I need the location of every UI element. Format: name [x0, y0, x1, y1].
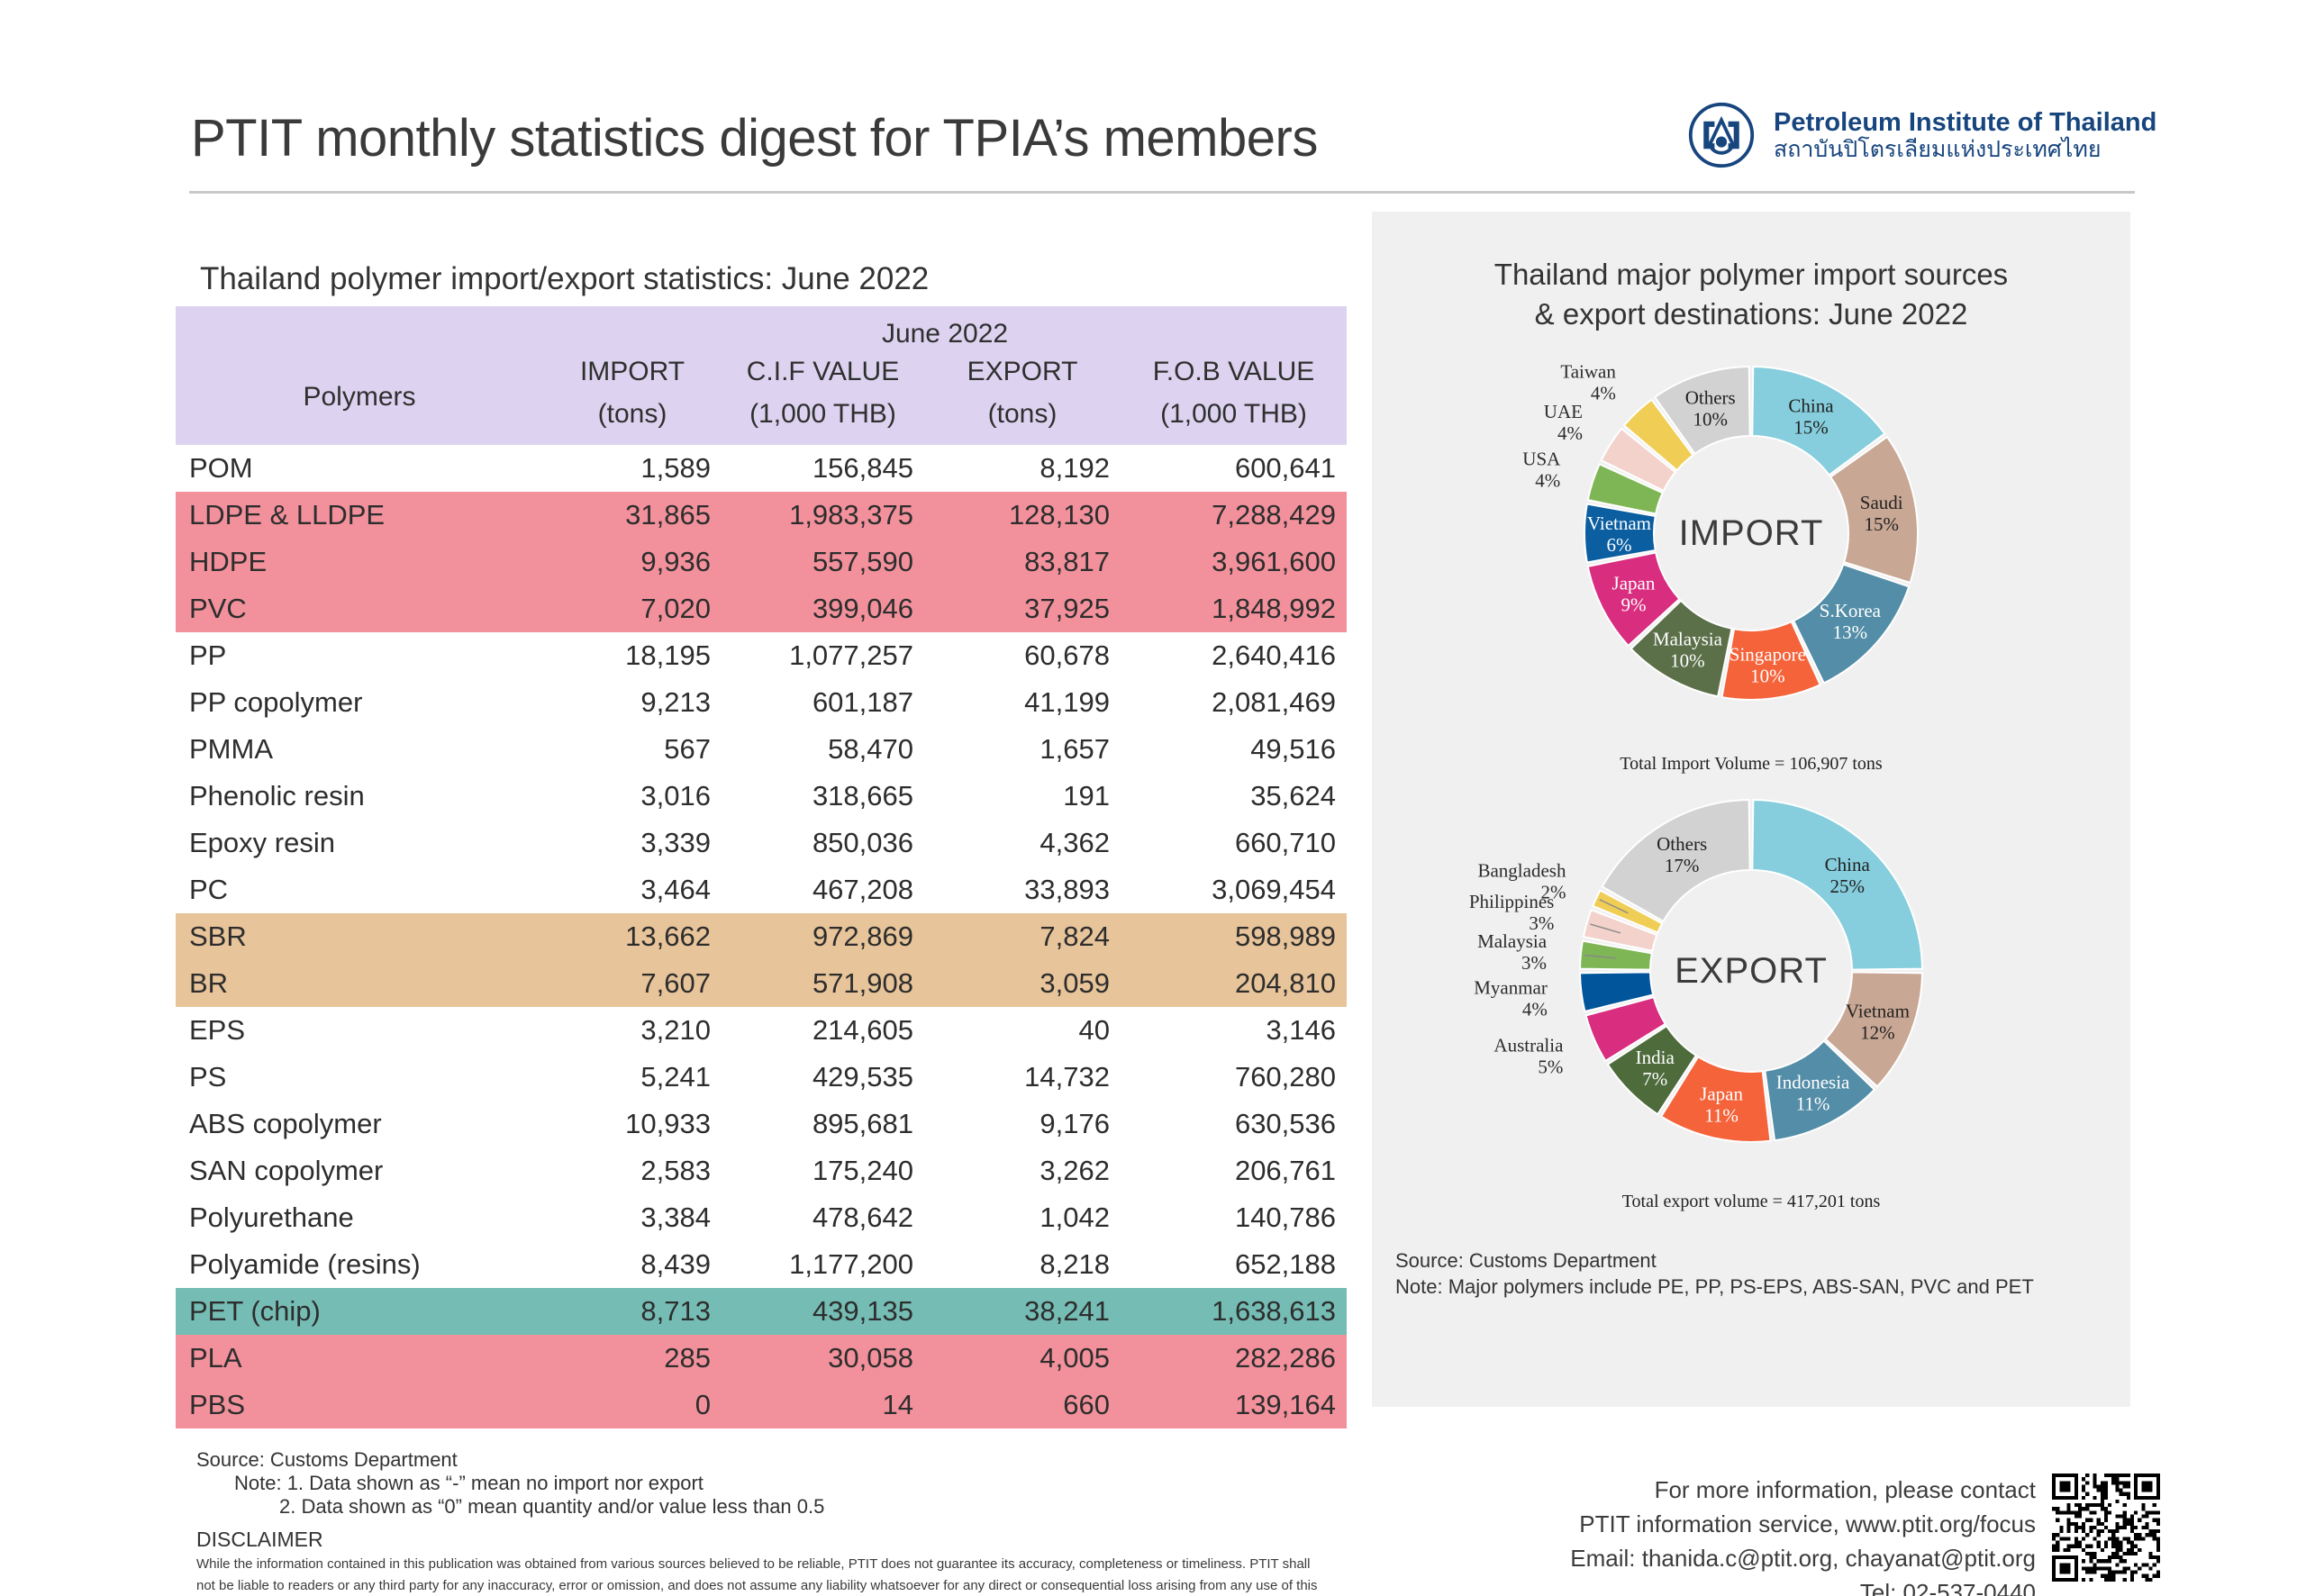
row-fob-value: 1,638,613 [1121, 1288, 1347, 1335]
table-footnotes: Source: Customs Department Note: 1. Data… [196, 1448, 1322, 1596]
row-import-tons: 31,865 [543, 492, 722, 539]
row-cif-value: 1,077,257 [722, 632, 924, 679]
brand-logo: Petroleum Institute of Thailand สถาบันปิ… [1687, 101, 2156, 169]
charts-source-note: Source: Customs Department Note: Major p… [1395, 1247, 2034, 1300]
row-export-tons: 8,218 [924, 1241, 1121, 1288]
row-cif-value: 850,036 [722, 820, 924, 866]
row-export-tons: 3,262 [924, 1147, 1121, 1194]
row-export-tons: 41,199 [924, 679, 1121, 726]
row-polymer-name: Phenolic resin [176, 773, 543, 820]
row-cif-value: 318,665 [722, 773, 924, 820]
table-row: SAN copolymer2,583175,2403,262206,761 [176, 1147, 1347, 1194]
row-fob-value: 600,641 [1121, 445, 1347, 492]
row-fob-value: 630,536 [1121, 1101, 1347, 1147]
row-import-tons: 9,936 [543, 539, 722, 585]
slice-label: USA4% [1522, 449, 1561, 492]
table-header-period-row: June 2022 [176, 306, 1347, 349]
row-export-tons: 1,657 [924, 726, 1121, 773]
row-polymer-name: SBR [176, 913, 543, 960]
column-header-fob: F.O.B VALUE [1121, 349, 1347, 394]
table-row: LDPE & LLDPE31,8651,983,375128,1307,288,… [176, 492, 1347, 539]
row-cif-value: 601,187 [722, 679, 924, 726]
table-row: POM1,589156,8458,192600,641 [176, 445, 1347, 492]
row-polymer-name: POM [176, 445, 543, 492]
row-polymer-name: LDPE & LLDPE [176, 492, 543, 539]
row-import-tons: 5,241 [543, 1054, 722, 1101]
row-import-tons: 3,210 [543, 1007, 722, 1054]
row-export-tons: 9,176 [924, 1101, 1121, 1147]
row-cif-value: 30,058 [722, 1335, 924, 1382]
row-fob-value: 206,761 [1121, 1147, 1347, 1194]
row-export-tons: 14,732 [924, 1054, 1121, 1101]
row-polymer-name: PVC [176, 585, 543, 632]
row-import-tons: 3,339 [543, 820, 722, 866]
page-title: PTIT monthly statistics digest for TPIA’… [191, 108, 1318, 168]
row-cif-value: 175,240 [722, 1147, 924, 1194]
row-cif-value: 214,605 [722, 1007, 924, 1054]
row-cif-value: 156,845 [722, 445, 924, 492]
column-unit-fob: (1,000 THB) [1121, 394, 1347, 445]
table-row: PP copolymer9,213601,18741,1992,081,469 [176, 679, 1347, 726]
brand-name-th: สถาบันปิโตรเลียมแห่งประเทศไทย [1774, 137, 2156, 162]
column-header-polymers: Polymers [176, 349, 543, 445]
export-donut-chart: China25%Vietnam12%Indonesia11%Japan11%In… [1372, 759, 2130, 1212]
row-fob-value: 598,989 [1121, 913, 1347, 960]
contact-line-1: For more information, please contact [1522, 1474, 2036, 1508]
row-fob-value: 139,164 [1121, 1382, 1347, 1428]
row-import-tons: 3,464 [543, 866, 722, 913]
table-row: Phenolic resin3,016318,66519135,624 [176, 773, 1347, 820]
table-header-label-row: Polymers IMPORT C.I.F VALUE EXPORT F.O.B… [176, 349, 1347, 394]
row-fob-value: 652,188 [1121, 1241, 1347, 1288]
row-fob-value: 2,081,469 [1121, 679, 1347, 726]
row-fob-value: 282,286 [1121, 1335, 1347, 1382]
table-row: Epoxy resin3,339850,0364,362660,710 [176, 820, 1347, 866]
row-import-tons: 13,662 [543, 913, 722, 960]
row-polymer-name: Epoxy resin [176, 820, 543, 866]
row-polymer-name: PP [176, 632, 543, 679]
column-unit-cif: (1,000 THB) [722, 394, 924, 445]
row-cif-value: 478,642 [722, 1194, 924, 1241]
row-import-tons: 10,933 [543, 1101, 722, 1147]
slice-label: UAE4% [1544, 401, 1583, 444]
table-row: HDPE9,936557,59083,8173,961,600 [176, 539, 1347, 585]
table-row: PP18,1951,077,25760,6782,640,416 [176, 632, 1347, 679]
brand-name-en: Petroleum Institute of Thailand [1774, 108, 2156, 137]
table-row: PVC7,020399,04637,9251,848,992 [176, 585, 1347, 632]
page-root: PTIT monthly statistics digest for TPIA’… [0, 0, 2306, 1596]
header-period: June 2022 [543, 306, 1347, 349]
export-total-label: Total export volume = 417,201 tons [1372, 1192, 2130, 1212]
row-polymer-name: HDPE [176, 539, 543, 585]
row-import-tons: 8,439 [543, 1241, 722, 1288]
row-polymer-name: PC [176, 866, 543, 913]
row-export-tons: 1,042 [924, 1194, 1121, 1241]
row-export-tons: 37,925 [924, 585, 1121, 632]
row-fob-value: 35,624 [1121, 773, 1347, 820]
header-divider [189, 191, 2135, 194]
table-row: Polyurethane3,384478,6421,042140,786 [176, 1194, 1347, 1241]
table-body: POM1,589156,8458,192600,641LDPE & LLDPE3… [176, 445, 1347, 1428]
table-row: PS5,241429,53514,732760,280 [176, 1054, 1347, 1101]
footnote-note-2: 2. Data shown as “0” mean quantity and/o… [279, 1495, 1322, 1519]
row-export-tons: 60,678 [924, 632, 1121, 679]
row-fob-value: 1,848,992 [1121, 585, 1347, 632]
row-cif-value: 895,681 [722, 1101, 924, 1147]
row-import-tons: 8,713 [543, 1288, 722, 1335]
row-polymer-name: PLA [176, 1335, 543, 1382]
row-cif-value: 429,535 [722, 1054, 924, 1101]
charts-note: Note: Major polymers include PE, PP, PS-… [1395, 1274, 2034, 1300]
row-export-tons: 7,824 [924, 913, 1121, 960]
row-export-tons: 660 [924, 1382, 1121, 1428]
row-fob-value: 760,280 [1121, 1054, 1347, 1101]
charts-title-line1: Thailand major polymer import sources [1372, 255, 2130, 295]
slice-label: Myanmar4% [1474, 977, 1548, 1020]
table-row: ABS copolymer10,933895,6819,176630,536 [176, 1101, 1347, 1147]
table-row: PET (chip)8,713439,13538,2411,638,613 [176, 1288, 1347, 1335]
row-polymer-name: SAN copolymer [176, 1147, 543, 1194]
row-import-tons: 567 [543, 726, 722, 773]
contact-line-4: Tel: 02-537-0440 [1522, 1576, 2036, 1596]
row-fob-value: 3,069,454 [1121, 866, 1347, 913]
row-export-tons: 191 [924, 773, 1121, 820]
row-export-tons: 4,362 [924, 820, 1121, 866]
row-cif-value: 14 [722, 1382, 924, 1428]
table-row: PC3,464467,20833,8933,069,454 [176, 866, 1347, 913]
donut-center-label: EXPORT [1675, 951, 1828, 991]
row-fob-value: 660,710 [1121, 820, 1347, 866]
row-export-tons: 8,192 [924, 445, 1121, 492]
slice-label: Japan11% [1700, 1083, 1743, 1126]
contact-line-3: Email: thanida.c@ptit.org, chayanat@ptit… [1522, 1542, 2036, 1576]
row-fob-value: 3,146 [1121, 1007, 1347, 1054]
row-polymer-name: EPS [176, 1007, 543, 1054]
footnote-note-1: Note: 1. Data shown as “-” mean no impor… [234, 1472, 1322, 1495]
column-unit-export: (tons) [924, 394, 1121, 445]
slice-label: Saudi15% [1860, 492, 1903, 535]
row-polymer-name: ABS copolymer [176, 1101, 543, 1147]
import-donut-chart: China15%Saudi15%S.Korea13%Singapore10%Ma… [1372, 322, 2130, 775]
row-fob-value: 3,961,600 [1121, 539, 1347, 585]
row-export-tons: 128,130 [924, 492, 1121, 539]
slice-label: Australia5% [1493, 1035, 1564, 1078]
column-header-export: EXPORT [924, 349, 1121, 394]
row-cif-value: 557,590 [722, 539, 924, 585]
row-fob-value: 7,288,429 [1121, 492, 1347, 539]
row-import-tons: 18,195 [543, 632, 722, 679]
donut-center-label: IMPORT [1679, 513, 1824, 553]
slice-label: Taiwan4% [1560, 361, 1616, 404]
table-head: June 2022 Polymers IMPORT C.I.F VALUE EX… [176, 306, 1347, 445]
row-import-tons: 285 [543, 1335, 722, 1382]
row-polymer-name: PP copolymer [176, 679, 543, 726]
row-polymer-name: PET (chip) [176, 1288, 543, 1335]
row-polymer-name: PBS [176, 1382, 543, 1428]
row-fob-value: 49,516 [1121, 726, 1347, 773]
table-row: Polyamide (resins)8,4391,177,2008,218652… [176, 1241, 1347, 1288]
ptit-logo-icon [1687, 101, 1756, 169]
disclaimer-body: While the information contained in this … [196, 1554, 1322, 1596]
row-polymer-name: Polyamide (resins) [176, 1241, 543, 1288]
row-fob-value: 140,786 [1121, 1194, 1347, 1241]
charts-source: Source: Customs Department [1395, 1247, 2034, 1274]
table-row: PBS014660139,164 [176, 1382, 1347, 1428]
table-row: BR7,607571,9083,059204,810 [176, 960, 1347, 1007]
row-cif-value: 399,046 [722, 585, 924, 632]
table-row: PLA28530,0584,005282,286 [176, 1335, 1347, 1382]
row-polymer-name: Polyurethane [176, 1194, 543, 1241]
row-fob-value: 2,640,416 [1121, 632, 1347, 679]
row-import-tons: 7,607 [543, 960, 722, 1007]
polymer-statistics-table: June 2022 Polymers IMPORT C.I.F VALUE EX… [176, 306, 1347, 1428]
column-header-import: IMPORT [543, 349, 722, 394]
row-polymer-name: BR [176, 960, 543, 1007]
row-export-tons: 83,817 [924, 539, 1121, 585]
row-polymer-name: PMMA [176, 726, 543, 773]
row-export-tons: 33,893 [924, 866, 1121, 913]
column-unit-import: (tons) [543, 394, 722, 445]
contact-block: For more information, please contact PTI… [1522, 1474, 2036, 1596]
column-header-cif: C.I.F VALUE [722, 349, 924, 394]
row-export-tons: 3,059 [924, 960, 1121, 1007]
row-cif-value: 1,983,375 [722, 492, 924, 539]
row-cif-value: 1,177,200 [722, 1241, 924, 1288]
disclaimer-title: DISCLAIMER [196, 1528, 1322, 1552]
footnote-source: Source: Customs Department [196, 1448, 1322, 1472]
row-import-tons: 3,016 [543, 773, 722, 820]
row-cif-value: 571,908 [722, 960, 924, 1007]
row-export-tons: 4,005 [924, 1335, 1121, 1382]
slice-label: Malaysia3% [1477, 930, 1548, 974]
qr-code-icon [2052, 1474, 2160, 1582]
row-cif-value: 58,470 [722, 726, 924, 773]
table-row: PMMA56758,4701,65749,516 [176, 726, 1347, 773]
row-cif-value: 972,869 [722, 913, 924, 960]
charts-panel: Thailand major polymer import sources & … [1372, 212, 2130, 1407]
row-cif-value: 467,208 [722, 866, 924, 913]
slice-label: China25% [1825, 854, 1871, 897]
table-title: Thailand polymer import/export statistic… [200, 261, 929, 297]
row-polymer-name: PS [176, 1054, 543, 1101]
row-import-tons: 9,213 [543, 679, 722, 726]
contact-line-2: PTIT information service, www.ptit.org/f… [1522, 1508, 2036, 1542]
row-export-tons: 38,241 [924, 1288, 1121, 1335]
row-import-tons: 3,384 [543, 1194, 722, 1241]
table-row: SBR13,662972,8697,824598,989 [176, 913, 1347, 960]
row-import-tons: 7,020 [543, 585, 722, 632]
table-row: EPS3,210214,605403,146 [176, 1007, 1347, 1054]
row-import-tons: 0 [543, 1382, 722, 1428]
row-export-tons: 40 [924, 1007, 1121, 1054]
row-fob-value: 204,810 [1121, 960, 1347, 1007]
row-import-tons: 1,589 [543, 445, 722, 492]
slice-label: China15% [1788, 394, 1834, 438]
row-cif-value: 439,135 [722, 1288, 924, 1335]
row-import-tons: 2,583 [543, 1147, 722, 1194]
